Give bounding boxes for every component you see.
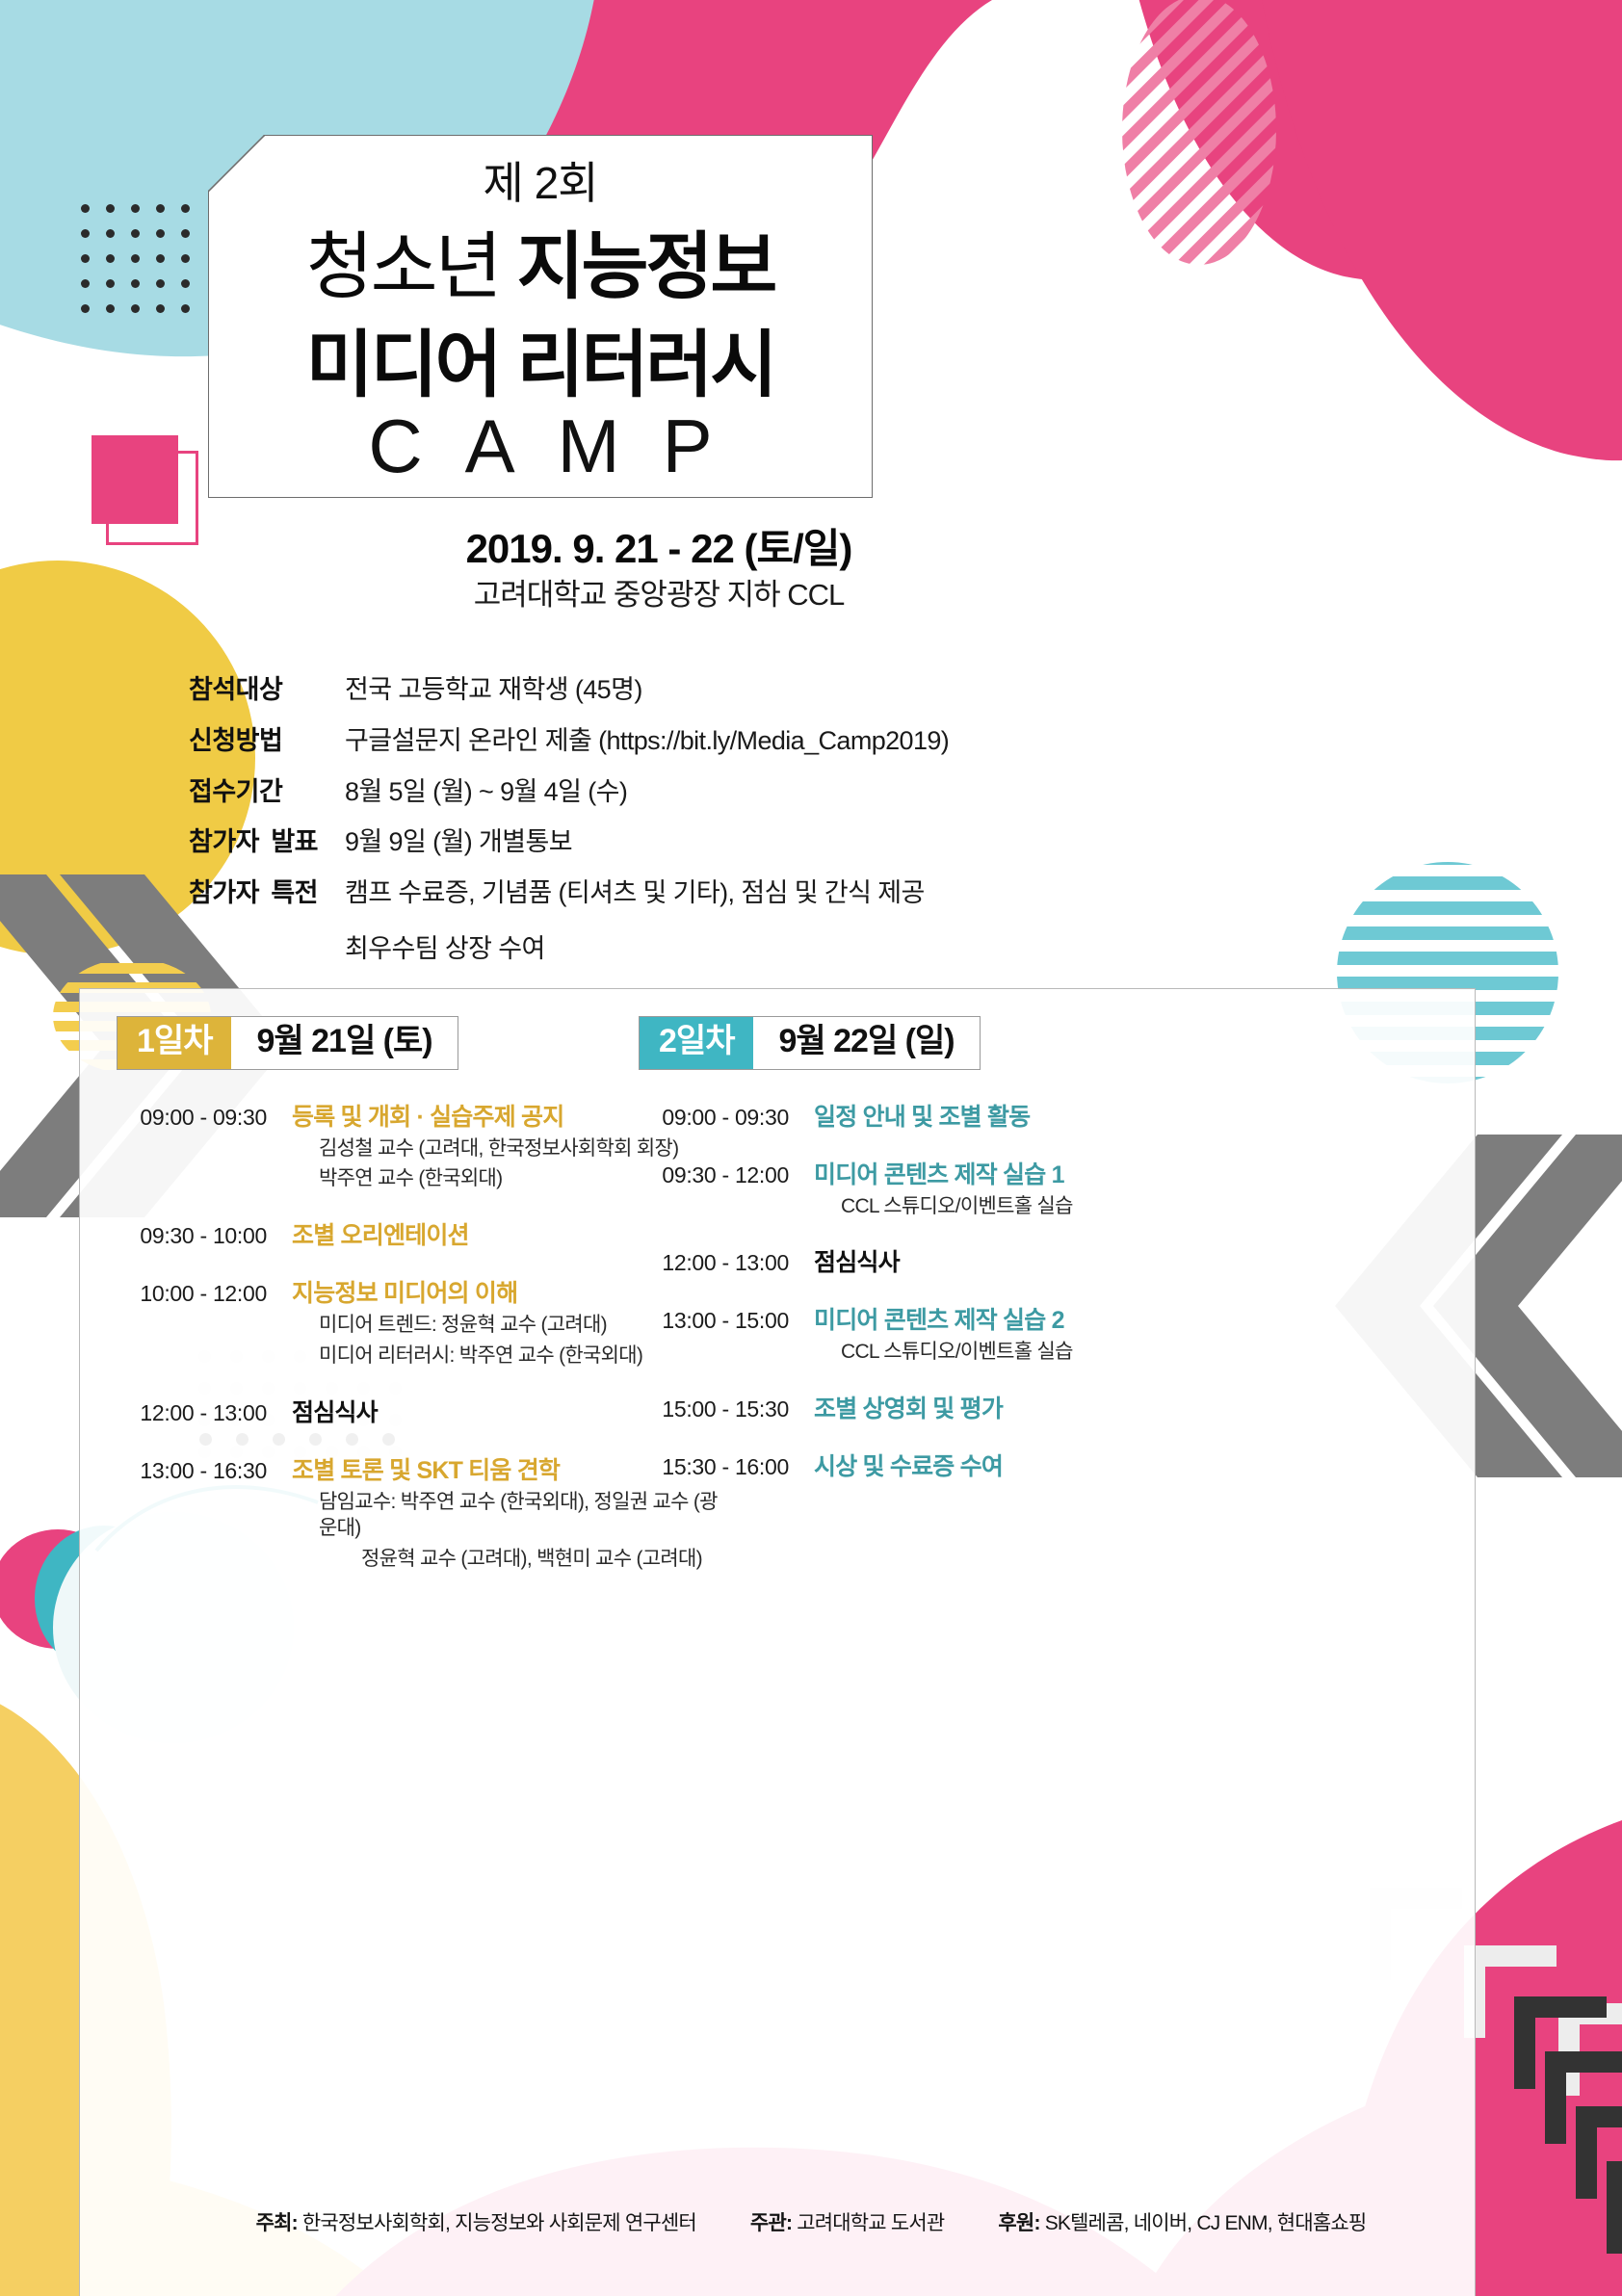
- schedule-item-time: 12:00 - 13:00: [639, 1248, 814, 1276]
- info-label: 신청방법: [189, 725, 345, 758]
- schedule-item-title: 조별 상영회 및 평가: [814, 1395, 1236, 1423]
- info-label: 참가자 발표: [189, 826, 345, 859]
- info-value: 캠프 수료증, 기념품 (티셔츠 및 기타), 점심 및 간식 제공 최우수팀 …: [345, 877, 925, 966]
- schedule-item-time: 09:30 - 12:00: [639, 1161, 814, 1188]
- schedule-item-body: 일정 안내 및 조별 활동: [814, 1103, 1236, 1132]
- dot-grid-topleft: [81, 204, 190, 313]
- schedule-item-body: 조별 상영회 및 평가: [814, 1395, 1236, 1423]
- footer: 주최: 한국정보사회학회, 지능정보와 사회문제 연구센터 주관: 고려대학교 …: [0, 2207, 1622, 2236]
- schedule-item-time: 12:00 - 13:00: [117, 1398, 292, 1426]
- schedule-item-title: 시상 및 수료증 수여: [814, 1452, 1236, 1481]
- pink-square-outline: [106, 451, 198, 545]
- info-value-line1: 캠프 수료증, 기념품 (티셔츠 및 기타), 점심 및 간식 제공: [345, 878, 925, 907]
- day2-badge: 2일차: [640, 1017, 753, 1069]
- title-camp-word: CAMP: [208, 403, 873, 490]
- day2-date: 9월 22일 (일): [753, 1017, 979, 1069]
- day2-header: 2일차 9월 22일 (일): [639, 1016, 981, 1070]
- info-row: 참석대상 전국 고등학교 재학생 (45명): [189, 674, 1441, 707]
- footer-host-label: 주최:: [256, 2212, 298, 2234]
- schedule-day-2: 2일차 9월 22일 (일) 09:00 - 09:30일정 안내 및 조별 활…: [639, 1016, 1236, 1510]
- footer-host-value: 한국정보사회학회, 지능정보와 사회문제 연구센터: [302, 2212, 696, 2234]
- schedule-item-time: 15:00 - 15:30: [639, 1395, 814, 1422]
- title-word-ai-info: 지능정보: [517, 226, 775, 308]
- schedule-item-detail: 정윤혁 교수 (고려대), 백현미 교수 (고려대): [292, 1546, 733, 1573]
- footer-organizer: 주관: 고려대학교 도서관: [750, 2207, 944, 2236]
- issue-number: 제 2회: [208, 148, 873, 212]
- info-list: 참석대상 전국 고등학교 재학생 (45명) 신청방법 구글설문지 온라인 제출…: [189, 674, 1441, 984]
- title-line-1: 청소년 지능정보: [208, 207, 873, 313]
- day1-date: 9월 21일 (토): [231, 1017, 457, 1069]
- info-value: 8월 5일 (월) ~ 9월 4일 (수): [345, 776, 627, 809]
- schedule-item-detail: CCL 스튜디오/이벤트홀 실습: [814, 1339, 1236, 1366]
- schedule-item-time: 09:30 - 10:00: [117, 1221, 292, 1249]
- schedule-item: 12:00 - 13:00점심식사: [639, 1248, 1236, 1277]
- schedule-item: 15:00 - 15:30조별 상영회 및 평가: [639, 1395, 1236, 1423]
- title-text-group: 제 2회 청소년 지능정보 미디어 리터러시 CAMP: [208, 135, 873, 498]
- day1-badge: 1일차: [118, 1017, 231, 1069]
- info-value-line2: 최우수팀 상장 수여: [345, 933, 925, 966]
- schedule-item-body: 미디어 콘텐츠 제작 실습 2CCL 스튜디오/이벤트홀 실습: [814, 1306, 1236, 1366]
- schedule-item: 09:00 - 09:30일정 안내 및 조별 활동: [639, 1103, 1236, 1132]
- info-row: 신청방법 구글설문지 온라인 제출 (https://bit.ly/Media_…: [189, 725, 1441, 758]
- event-date: 2019. 9. 21 - 22 (토/일): [208, 516, 1110, 575]
- info-label: 참석대상: [189, 674, 345, 707]
- info-label: 접수기간: [189, 776, 345, 809]
- footer-host: 주최: 한국정보사회학회, 지능정보와 사회문제 연구센터: [256, 2207, 696, 2236]
- title-line-2: 미디어 리터러시: [208, 305, 873, 411]
- schedule-item-time: 13:00 - 16:30: [117, 1456, 292, 1484]
- schedule-item-time: 09:00 - 09:30: [639, 1103, 814, 1131]
- info-row: 참가자 발표 9월 9일 (월) 개별통보: [189, 826, 1441, 859]
- schedule-item-body: 점심식사: [814, 1248, 1236, 1277]
- schedule-item: 09:30 - 12:00미디어 콘텐츠 제작 실습 1CCL 스튜디오/이벤트…: [639, 1161, 1236, 1220]
- footer-organizer-value: 고려대학교 도서관: [797, 2212, 944, 2234]
- schedule-item-title: 점심식사: [814, 1248, 1236, 1277]
- schedule-item-body: 시상 및 수료증 수여: [814, 1452, 1236, 1481]
- info-row: 참가자 특전 캠프 수료증, 기념품 (티셔츠 및 기타), 점심 및 간식 제…: [189, 877, 1441, 966]
- schedule-item-time: 09:00 - 09:30: [117, 1103, 292, 1131]
- footer-organizer-label: 주관:: [750, 2212, 792, 2234]
- info-value: 구글설문지 온라인 제출 (https://bit.ly/Media_Camp2…: [345, 725, 949, 758]
- schedule-item-title: 미디어 콘텐츠 제작 실습 2: [814, 1306, 1236, 1335]
- schedule-item-time: 10:00 - 12:00: [117, 1279, 292, 1307]
- footer-sponsor-value: SK텔레콤, 네이버, CJ ENM, 현대홈쇼핑: [1045, 2212, 1367, 2234]
- day2-item-list: 09:00 - 09:30일정 안내 및 조별 활동09:30 - 12:00미…: [639, 1103, 1236, 1481]
- schedule-item-title: 미디어 콘텐츠 제작 실습 1: [814, 1161, 1236, 1189]
- schedule-item: 15:30 - 16:00시상 및 수료증 수여: [639, 1452, 1236, 1481]
- event-venue: 고려대학교 중앙광장 지하 CCL: [208, 570, 1110, 613]
- info-row: 접수기간 8월 5일 (월) ~ 9월 4일 (수): [189, 776, 1441, 809]
- schedule-item-body: 미디어 콘텐츠 제작 실습 1CCL 스튜디오/이벤트홀 실습: [814, 1161, 1236, 1220]
- schedule-item-time: 13:00 - 15:00: [639, 1306, 814, 1334]
- schedule-item-title: 일정 안내 및 조별 활동: [814, 1103, 1236, 1132]
- schedule-item-detail: CCL 스튜디오/이벤트홀 실습: [814, 1193, 1236, 1220]
- schedule-panel: 1일차 9월 21일 (토) 09:00 - 09:30등록 및 개회 · 실습…: [79, 988, 1476, 2296]
- info-value: 9월 9일 (월) 개별통보: [345, 826, 572, 859]
- title-word-youth: 청소년: [306, 226, 500, 308]
- schedule-item: 13:00 - 15:00미디어 콘텐츠 제작 실습 2CCL 스튜디오/이벤트…: [639, 1306, 1236, 1366]
- info-label: 참가자 특전: [189, 877, 345, 910]
- poster-root: 제 2회 청소년 지능정보 미디어 리터러시 CAMP 2019. 9. 21 …: [0, 0, 1622, 2296]
- day1-header: 1일차 9월 21일 (토): [117, 1016, 458, 1070]
- footer-sponsor-label: 후원:: [998, 2212, 1039, 2234]
- info-value: 전국 고등학교 재학생 (45명): [345, 674, 642, 707]
- schedule-item-time: 15:30 - 16:00: [639, 1452, 814, 1480]
- footer-sponsor: 후원: SK텔레콤, 네이버, CJ ENM, 현대홈쇼핑: [998, 2207, 1366, 2236]
